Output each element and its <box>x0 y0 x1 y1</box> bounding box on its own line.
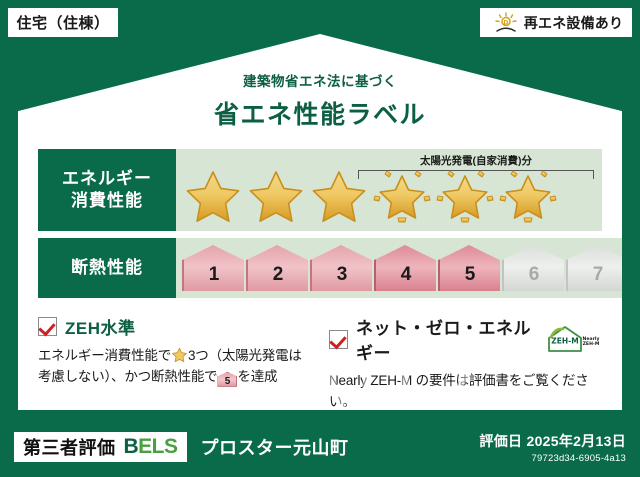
grade-value: 3 <box>337 264 348 286</box>
bels-logo: BELS <box>124 435 178 459</box>
zeh-body-part3: を達成 <box>237 369 277 384</box>
grade-value: 1 <box>209 264 220 286</box>
grade-value: 2 <box>273 264 284 286</box>
grade-value: 6 <box>529 264 540 286</box>
grade-value: 4 <box>401 264 412 286</box>
insulation-performance-label-box: 断熱性能 <box>38 238 176 298</box>
star-icon <box>245 164 307 226</box>
grade-house-icon: 5 <box>217 372 237 387</box>
check-icon <box>38 317 57 336</box>
bels-logo-els: ELS <box>138 435 177 458</box>
energy-star-rating <box>182 164 596 229</box>
star-icon <box>171 346 188 363</box>
energy-performance-label-box: エネルギー 消費性能 <box>38 149 176 231</box>
grade-house-5: 5 <box>438 245 500 291</box>
insulation-label: 断熱性能 <box>71 257 143 279</box>
grade-house-1: 1 <box>182 245 244 291</box>
property-name: プロスター元山町 <box>201 434 349 460</box>
grade-house-6: 6 <box>502 245 564 291</box>
grade-value: 5 <box>465 264 476 286</box>
grade-house-4: 4 <box>374 245 436 291</box>
zeh-standard-note: ZEH水準 エネルギー消費性能で 3つ（太陽光発電は考慮しない）、かつ断熱性能で… <box>38 314 311 413</box>
zeh-note-title: ZEH水準 <box>65 314 136 339</box>
grade-value: 7 <box>593 264 604 286</box>
zeh-note-body: エネルギー消費性能で 3つ（太陽光発電は考慮しない）、かつ断熱性能で5を達成 <box>38 346 311 388</box>
net-zero-note-body: Nearly ZEH-M の要件は評価書をご覧ください。 <box>329 371 602 413</box>
bels-logo-b: B <box>124 435 139 458</box>
sun-icon: D <box>493 12 519 34</box>
energy-label-line1: エネルギー <box>62 168 152 190</box>
net-zero-note-header: ネット・ゼロ・エネルギー ZEH-M Nearly ZEH-M <box>329 314 602 364</box>
heading-title: 省エネ性能ラベル <box>38 95 602 131</box>
heading-subtitle: 建築物省エネ法に基づく <box>38 70 602 90</box>
notes-section: ZEH水準 エネルギー消費性能で 3つ（太陽光発電は考慮しない）、かつ断熱性能で… <box>38 314 602 413</box>
footer: 第三者評価 BELS プロスター元山町 評価日 2025年2月13日 79723… <box>0 417 640 477</box>
energy-rating-area: ハウス 太陽光発電(自家消費)分 <box>176 149 602 231</box>
svg-text:ZEH-M: ZEH-M <box>583 341 600 347</box>
star-icon <box>182 164 244 226</box>
footer-meta: 評価日 2025年2月13日 79723d34-6905-4a13 <box>479 431 626 464</box>
renewable-equipment-badge[interactable]: D 再エネ設備あり <box>480 8 632 37</box>
bels-prefix-label: 第三者評価 <box>23 434 116 460</box>
page-title: 建築物省エネ法に基づく 省エネ性能ラベル <box>38 70 602 131</box>
solar-star-icon <box>434 164 496 226</box>
net-zero-note-title: ネット・ゼロ・エネルギー <box>356 314 538 364</box>
solar-star-icon <box>497 164 559 226</box>
zeh-m-logo-icon: ZEH-M Nearly ZEH-M <box>546 325 602 353</box>
grade-house-7: 7 <box>566 245 628 291</box>
energy-performance-label: 住宅（住棟） D 再エネ設備あり 建築物省エネ法に基づく <box>0 0 640 477</box>
bels-badge: 第三者評価 BELS <box>14 432 187 462</box>
grade-house-2: 2 <box>246 245 308 291</box>
label-panel: 建築物省エネ法に基づく 省エネ性能ラベル エネルギー 消費性能 ハウス 太陽光発… <box>18 34 622 410</box>
insulation-grade-scale: 1 2 3 4 5 6 7 <box>182 245 628 291</box>
renewable-equipment-label: 再エネ設備あり <box>524 13 623 33</box>
svg-text:D: D <box>503 19 508 26</box>
check-icon <box>329 330 348 349</box>
net-zero-energy-note: ネット・ゼロ・エネルギー ZEH-M Nearly ZEH-M Nearly Z… <box>329 314 602 413</box>
zeh-note-header: ZEH水準 <box>38 314 311 339</box>
insulation-performance-row: 断熱性能 1 2 3 4 5 6 7 <box>38 238 602 298</box>
insulation-rating-area: 1 2 3 4 5 6 7 <box>176 238 634 298</box>
zeh-body-part1: エネルギー消費性能で <box>38 348 171 363</box>
energy-label-line2: 消費性能 <box>71 190 143 212</box>
solar-star-icon <box>371 164 433 226</box>
star-icon <box>308 164 370 226</box>
energy-performance-row: エネルギー 消費性能 ハウス 太陽光発電(自家消費)分 <box>38 149 602 231</box>
label-id: 79723d34-6905-4a13 <box>479 453 626 464</box>
dwelling-type-tab[interactable]: 住宅（住棟） <box>8 8 118 37</box>
evaluation-date: 評価日 2025年2月13日 <box>479 431 626 451</box>
svg-text:ZEH-M: ZEH-M <box>551 337 578 346</box>
dwelling-type-label: 住宅（住棟） <box>16 12 109 33</box>
grade-house-3: 3 <box>310 245 372 291</box>
